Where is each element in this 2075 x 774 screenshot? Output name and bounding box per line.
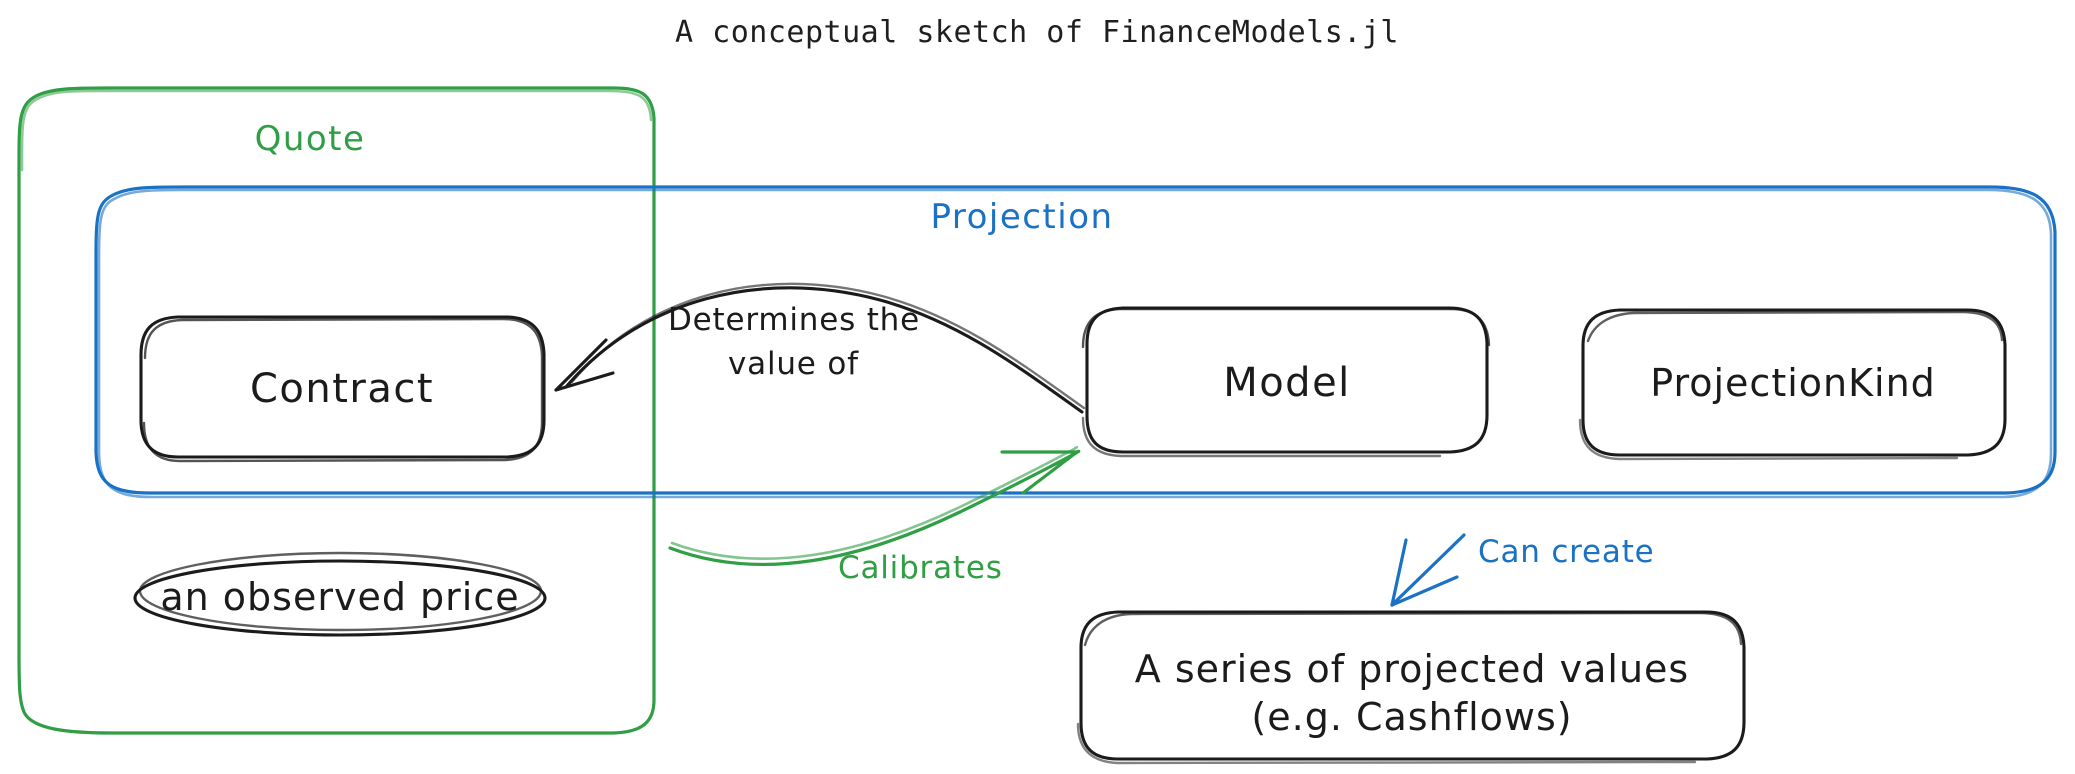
edge-label-calibrates: Calibrates: [838, 550, 1003, 586]
node-label-projected-values-line1: A series of projected values: [1135, 647, 1689, 691]
node-label-projectionkind: ProjectionKind: [1650, 361, 1936, 405]
page-title: A conceptual sketch of FinanceModels.jl: [675, 15, 1399, 50]
node-projectionkind[interactable]: ProjectionKind: [1580, 310, 2005, 459]
node-projected-values[interactable]: A series of projected values (e.g. Cashf…: [1078, 612, 1744, 763]
node-label-observed-price: an observed price: [160, 575, 519, 619]
edge-label-determines-line2: value of: [728, 346, 859, 382]
edge-label-can-create: Can create: [1478, 534, 1655, 570]
edge-determines: Determines the value of: [556, 284, 1084, 412]
node-label-contract: Contract: [250, 366, 434, 412]
edge-calibrates: Calibrates: [670, 447, 1079, 586]
edge-can-create: Can create: [1392, 534, 1655, 605]
node-observed-price[interactable]: an observed price: [135, 553, 545, 635]
node-model[interactable]: Model: [1083, 308, 1489, 456]
node-contract[interactable]: Contract: [141, 317, 544, 461]
node-label-model: Model: [1223, 360, 1351, 406]
diagram-canvas: A conceptual sketch of FinanceModels.jl …: [0, 0, 2075, 774]
group-label-projection: Projection: [930, 197, 1113, 237]
edge-label-determines-line1: Determines the: [668, 302, 920, 338]
group-label-quote: Quote: [255, 119, 366, 159]
node-label-projected-values-line2: (e.g. Cashflows): [1251, 695, 1572, 739]
